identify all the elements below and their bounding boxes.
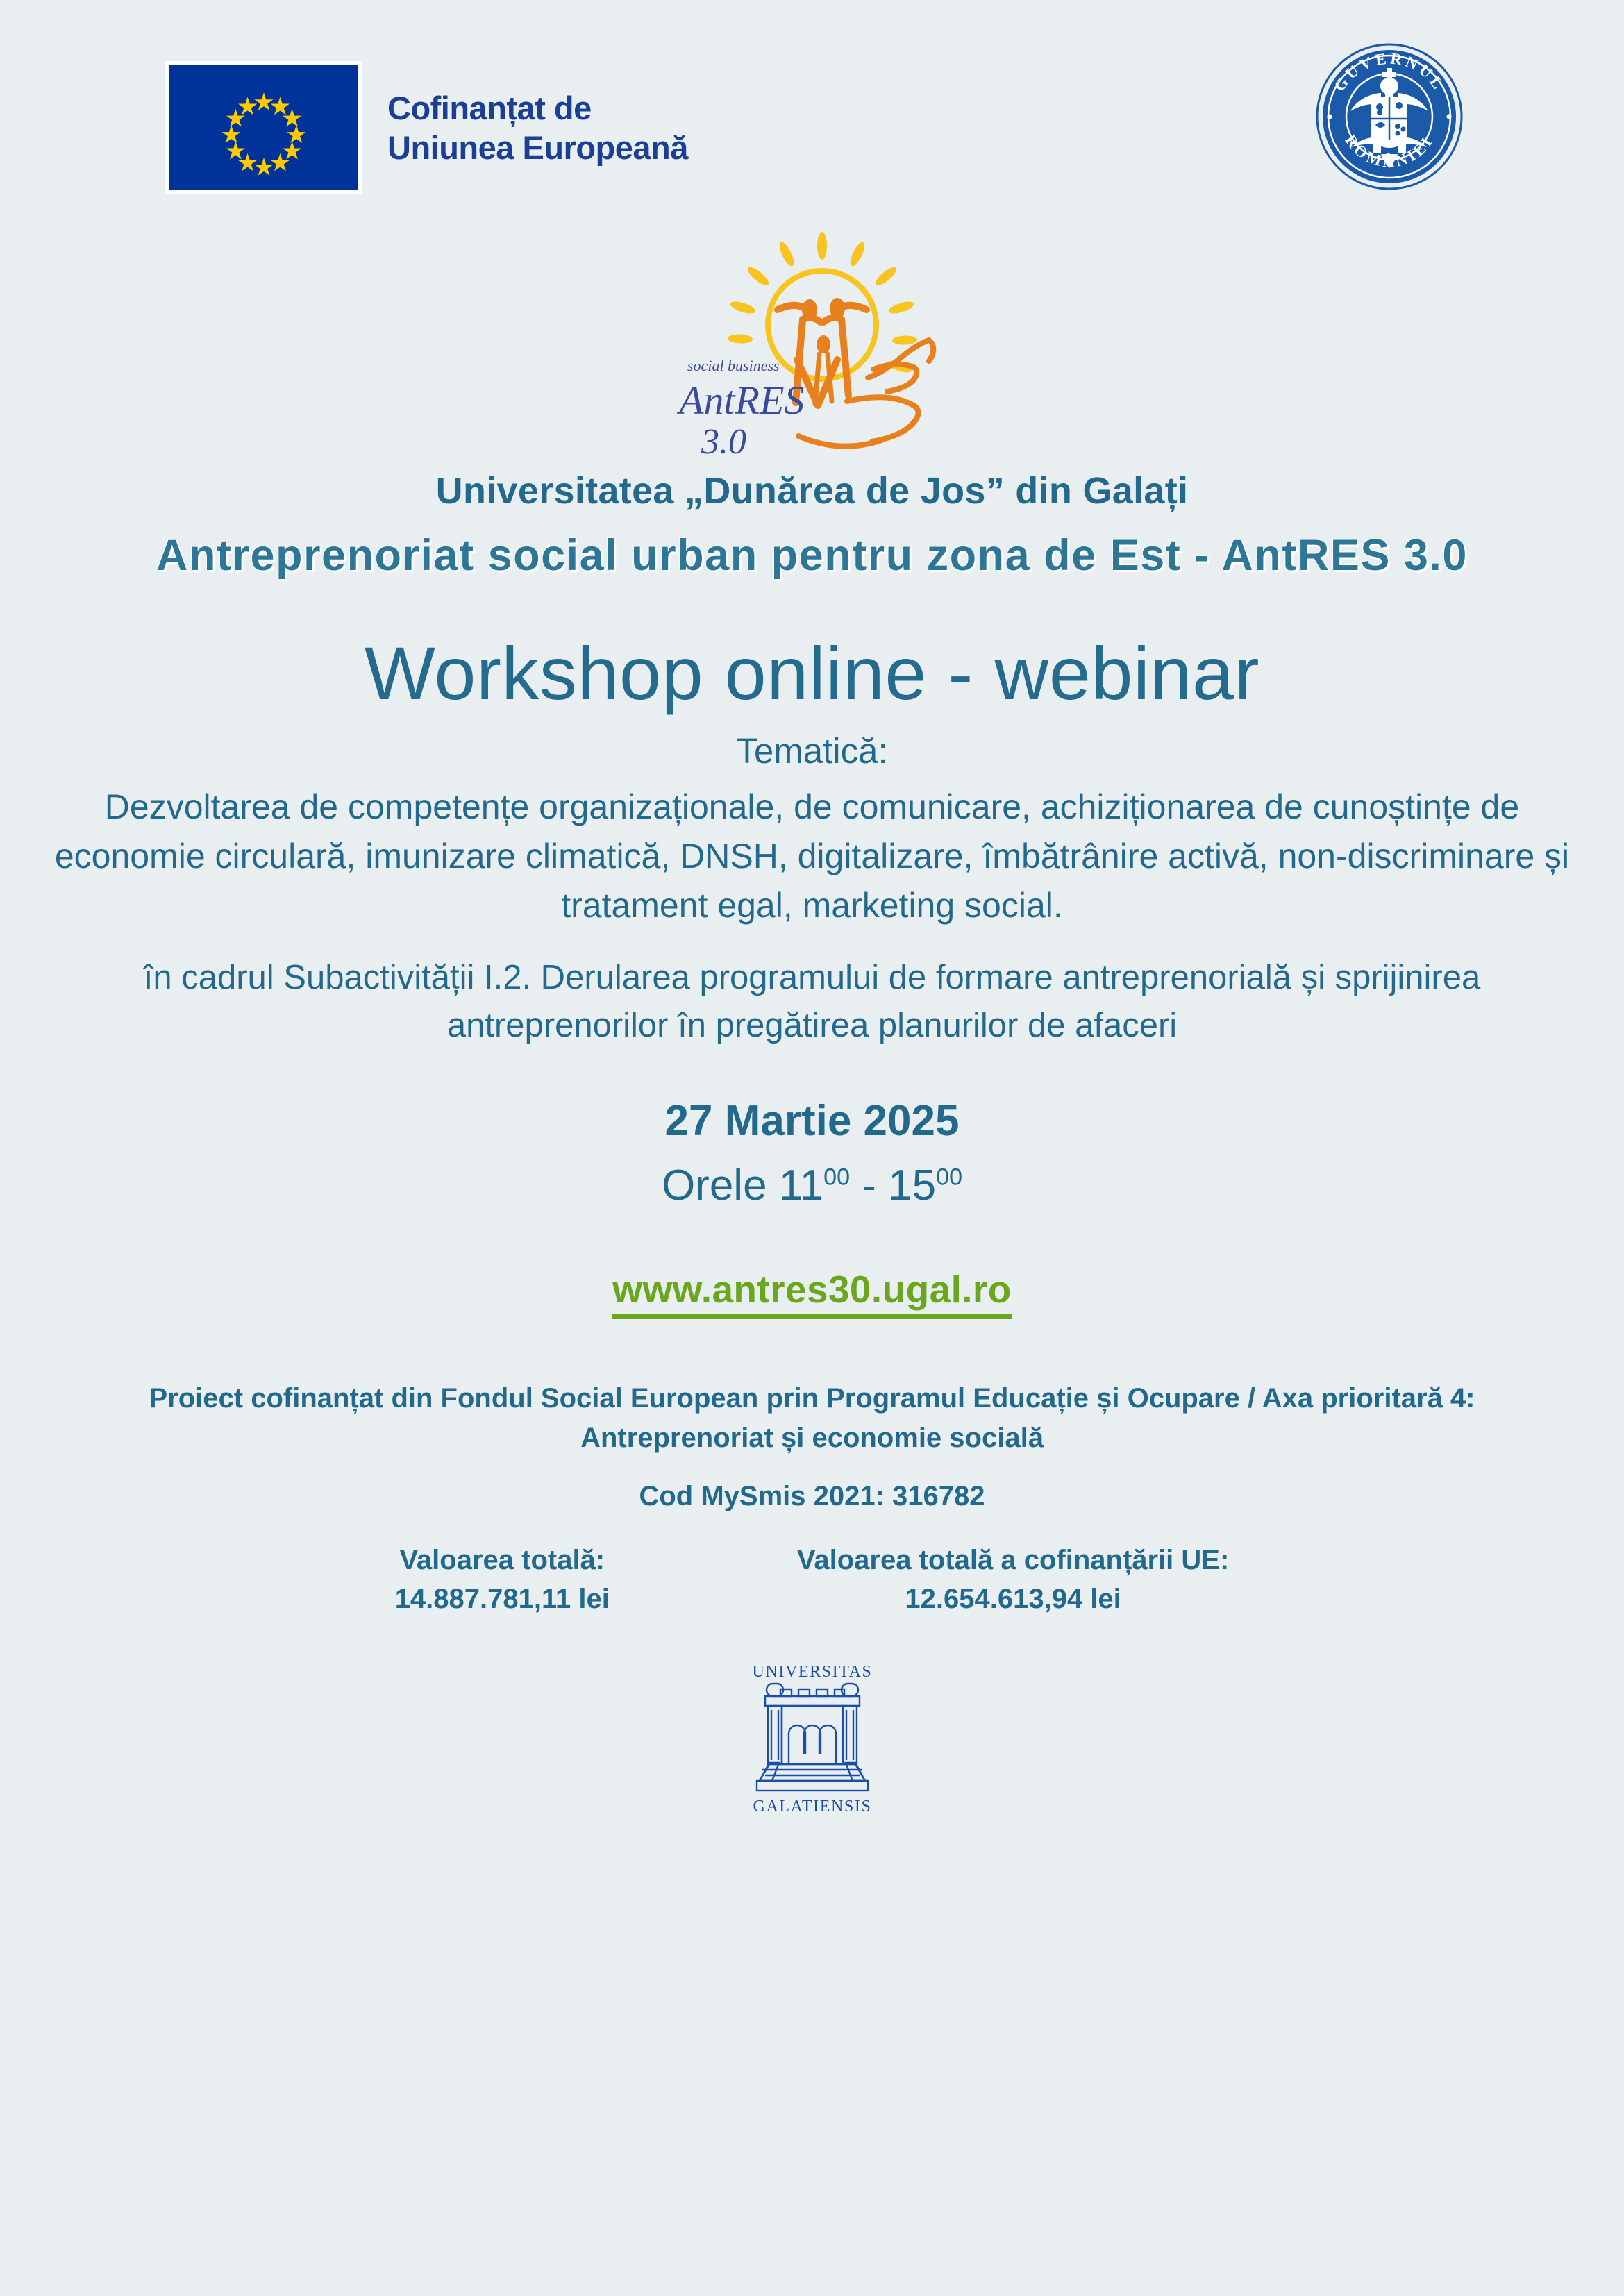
eu-funding-line-1: Cofinanțat de xyxy=(387,88,688,128)
eu-cofinance-amount: 12.654.613,94 lei xyxy=(797,1580,1229,1618)
event-time-start-minutes: 00 xyxy=(823,1164,850,1190)
project-title: Antreprenoriat social urban pentru zona … xyxy=(0,528,1624,584)
university-seal-top-text: UNIVERSITAS xyxy=(752,1663,872,1681)
total-value-label: Valoarea totală: xyxy=(395,1541,610,1579)
thematic-body: Dezvoltarea de competențe organizațional… xyxy=(0,782,1624,930)
poster-root: Cofinanțat de Uniunea Europeană GUVERNUL… xyxy=(0,0,1624,2296)
european-union-flag-icon xyxy=(165,61,362,194)
eu-funding-line-2: Uniunea Europeană xyxy=(387,128,688,167)
antres-logo-container: social business AntRES 3.0 xyxy=(0,228,1624,457)
poster-header: Cofinanțat de Uniunea Europeană GUVERNUL… xyxy=(0,0,1624,208)
government-of-romania-seal-icon: GUVERNUL ROMÂNIEI xyxy=(1316,43,1463,190)
eu-cofinance-block: Valoarea totală a cofinanțării UE: 12.65… xyxy=(797,1541,1229,1618)
total-value-block: Valoarea totală: 14.887.781,11 lei xyxy=(395,1541,610,1618)
antres-project-logo-icon: social business AntRES 3.0 xyxy=(673,228,951,457)
eu-funding-block: Cofinanțat de Uniunea Europeană xyxy=(165,61,688,194)
universitas-galatiensis-seal-icon: UNIVERSITAS GALATIENSIS xyxy=(735,1659,890,1818)
svg-text:AntRES: AntRES xyxy=(676,378,804,423)
thematic-label: Tematică: xyxy=(0,730,1624,771)
svg-text:3.0: 3.0 xyxy=(701,422,746,457)
event-time-end-minutes: 00 xyxy=(936,1164,962,1190)
mysmis-code: Cod MySmis 2021: 316782 xyxy=(0,1481,1624,1512)
eu-funding-text: Cofinanțat de Uniunea Europeană xyxy=(387,88,688,168)
project-values-row: Valoarea totală: 14.887.781,11 lei Valoa… xyxy=(0,1541,1624,1618)
project-website-link[interactable]: www.antres30.ugal.ro xyxy=(612,1267,1011,1319)
event-time-separator: - 15 xyxy=(850,1162,936,1209)
funding-note: Proiect cofinanțat din Fondul Social Eur… xyxy=(0,1379,1624,1458)
university-seal-bottom-text: GALATIENSIS xyxy=(753,1798,871,1816)
svg-text:social business: social business xyxy=(687,357,780,374)
total-value-amount: 14.887.781,11 lei xyxy=(395,1580,610,1618)
event-date: 27 Martie 2025 xyxy=(0,1096,1624,1146)
eu-cofinance-label: Valoarea totală a cofinanțării UE: xyxy=(797,1541,1229,1579)
website-row: www.antres30.ugal.ro xyxy=(0,1210,1624,1319)
university-seal-container: UNIVERSITAS GALATIENSIS xyxy=(0,1659,1624,1818)
event-time-start: Orele 11 xyxy=(662,1162,823,1209)
page-title: Workshop online - webinar xyxy=(0,630,1624,717)
subactivity-description: în cadrul Subactivității I.2. Derularea … xyxy=(0,954,1624,1050)
university-name: Universitatea „Dunărea de Jos” din Galaț… xyxy=(0,469,1624,512)
event-time: Orele 1100 - 1500 xyxy=(0,1161,1624,1210)
